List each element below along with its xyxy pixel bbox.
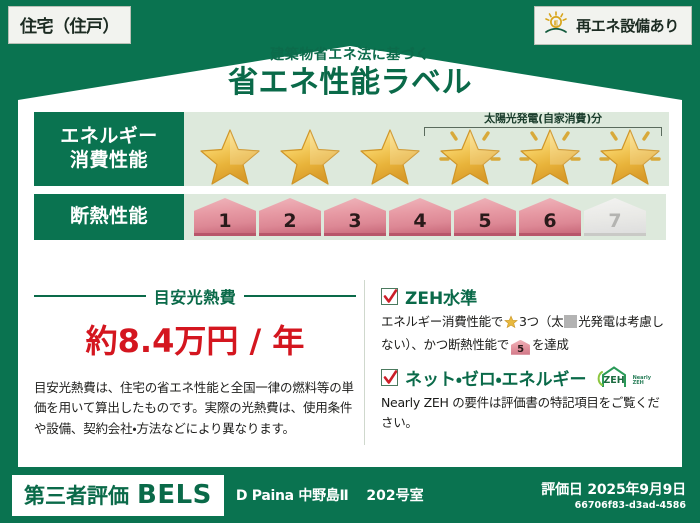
utility-cost-note: 目安光熱費は、住宅の省エネ性能と全国一律の燃料等の単価を用いて算出したものです。… <box>34 378 356 439</box>
building-name: D Paina 中野島Ⅱ <box>236 485 349 505</box>
net-zero-checkbox <box>381 369 398 386</box>
insulation-performance-value: 1234567 <box>184 194 666 240</box>
insulation-grade-6: 6 <box>519 198 581 236</box>
svg-text:ZEH: ZEH <box>603 375 624 386</box>
claim-net-zero-header: ネット・ゼロ・エネルギー ZEH Nearly ZEH <box>381 365 666 390</box>
grade-value: 5 <box>478 210 491 232</box>
footer-bar: 第三者評価 BELS D Paina 中野島Ⅱ 202号室 評価日 2025年9… <box>0 467 700 523</box>
energy-star-3 <box>350 120 429 184</box>
zeh-body-part2: 3つ（太 <box>519 314 563 329</box>
solar-bracket <box>424 127 662 136</box>
zeh-logo: ZEH Nearly ZEH <box>597 365 651 389</box>
zeh-body-part4: を達成 <box>532 337 569 352</box>
bels-certification-box: 第三者評価 BELS <box>12 475 224 516</box>
renewable-energy-label: 再エネ設備あり <box>576 15 679 36</box>
claim-zeh-standard: ZEH水準 エネルギー消費性能で3つ（太光発電は考慮しない）、かつ断熱性能で5を… <box>381 284 666 355</box>
claim-net-zero-title: ネット・ゼロ・エネルギー <box>405 365 587 390</box>
grade-value: 7 <box>608 210 621 232</box>
room-number: 202号室 <box>366 485 423 505</box>
zeh-sub-line2: ZEH <box>633 380 644 386</box>
insulation-key-label: 断熱性能 <box>70 205 148 229</box>
energy-key-line2: 消費性能 <box>70 149 148 173</box>
insulation-grade-4: 4 <box>389 198 451 236</box>
zeh-body-part1: エネルギー消費性能で <box>381 314 503 329</box>
claim-zeh-standard-header: ZEH水準 <box>381 284 666 309</box>
inline-grade-badge: 5 <box>511 340 530 355</box>
redacted-character <box>564 315 577 328</box>
insulation-grade-scale: 1234567 <box>190 198 646 236</box>
evaluation-info: 評価日 2025年9月9日 66706f83-d3ad-4586 <box>541 479 686 511</box>
inline-grade-value: 5 <box>517 344 524 355</box>
claim-zeh-standard-title: ZEH水準 <box>405 284 477 309</box>
grade-value: 2 <box>283 210 296 232</box>
evaluation-id: 66706f83-d3ad-4586 <box>541 500 686 511</box>
bels-mark: BELS <box>137 480 212 510</box>
energy-performance-row: エネルギー 消費性能 太陽光発電(自家消費)分 <box>34 112 666 186</box>
grade-value: 6 <box>543 210 556 232</box>
solar-annotation-label: 太陽光発電(自家消費)分 <box>424 110 662 126</box>
energy-performance-value: 太陽光発電(自家消費)分 <box>184 112 669 186</box>
bels-label: 第三者評価 <box>24 480 129 510</box>
renewable-energy-badge: E 再エネ設備あり <box>534 6 692 45</box>
energy-star-2 <box>270 120 349 184</box>
svg-text:E: E <box>554 19 559 27</box>
insulation-grade-1: 1 <box>194 198 256 236</box>
sun-icon: E <box>543 11 569 39</box>
details-section: 目安光熱費 約8.4万円 / 年 目安光熱費は、住宅の省エネ性能と全国一律の燃料… <box>34 280 666 445</box>
performance-section: エネルギー 消費性能 太陽光発電(自家消費)分 <box>34 112 666 240</box>
grade-value: 4 <box>413 210 426 232</box>
insulation-grade-5: 5 <box>454 198 516 236</box>
subtitle: 建築物省エネ法に基づく <box>0 44 700 64</box>
building-type-chip: 住宅（住戸） <box>8 6 131 44</box>
utility-cost-header: 目安光熱費 <box>34 284 356 308</box>
insulation-performance-key: 断熱性能 <box>34 194 184 240</box>
zeh-standard-checkbox <box>381 288 398 305</box>
zeh-logo-subtext: Nearly ZEH <box>633 376 651 390</box>
energy-label-root: 住宅（住戸） E 再エネ設備あり 建築物省エネ法に基づく 省エネ性能ラベル <box>0 0 700 523</box>
inline-star-icon <box>504 317 518 332</box>
title-block: 建築物省エネ法に基づく 省エネ性能ラベル <box>0 44 700 100</box>
energy-key-line1: エネルギー <box>60 125 158 149</box>
rule-right <box>244 295 356 297</box>
evaluation-date: 評価日 2025年9月9日 <box>541 479 686 499</box>
rule-left <box>34 295 146 297</box>
insulation-performance-row: 断熱性能 1234567 <box>34 194 666 240</box>
utility-cost-value: 約8.4万円 / 年 <box>34 316 356 362</box>
star-icon <box>275 119 345 185</box>
claim-zeh-standard-body: エネルギー消費性能で3つ（太光発電は考慮しない）、かつ断熱性能で5を達成 <box>381 312 666 355</box>
insulation-grade-7: 7 <box>584 198 646 236</box>
solar-annotation: 太陽光発電(自家消費)分 <box>424 110 662 136</box>
star-icon <box>195 119 265 185</box>
star-icon <box>355 119 425 185</box>
page-title: 省エネ性能ラベル <box>0 66 700 100</box>
insulation-grade-2: 2 <box>259 198 321 236</box>
grade-value: 1 <box>218 210 231 232</box>
utility-cost-title: 目安光熱費 <box>154 284 237 308</box>
insulation-grade-3: 3 <box>324 198 386 236</box>
energy-performance-key: エネルギー 消費性能 <box>34 112 184 186</box>
energy-star-1 <box>190 120 269 184</box>
grade-value: 3 <box>348 210 361 232</box>
utility-cost-block: 目安光熱費 約8.4万円 / 年 目安光熱費は、住宅の省エネ性能と全国一律の燃料… <box>34 280 364 445</box>
claim-net-zero-energy: ネット・ゼロ・エネルギー ZEH Nearly ZEH Nearly ZE <box>381 365 666 433</box>
claims-block: ZEH水準 エネルギー消費性能で3つ（太光発電は考慮しない）、かつ断熱性能で5を… <box>364 280 666 445</box>
claim-net-zero-body: Nearly ZEH の要件は評価書の特記項目をご覧ください。 <box>381 393 666 433</box>
